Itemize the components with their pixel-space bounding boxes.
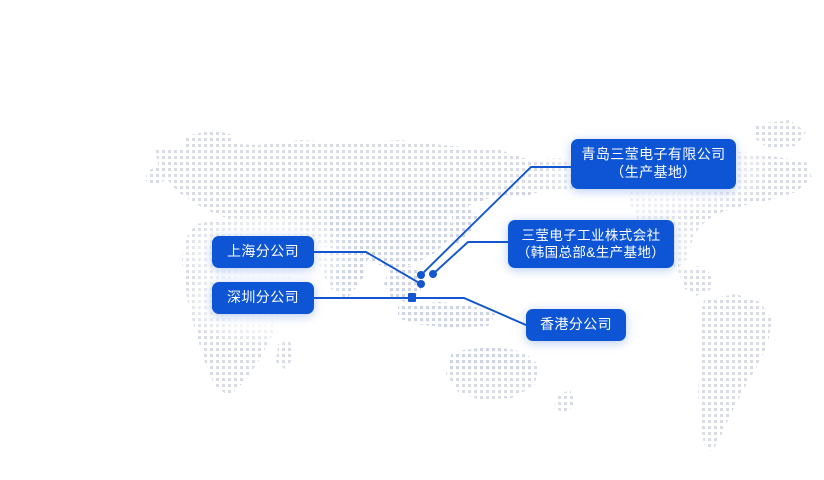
label-shanghai-line1: 上海分公司 [227, 243, 299, 261]
connector-lines [0, 0, 824, 480]
label-qingdao[interactable]: 青岛三莹电子有限公司 （生产基地） [571, 139, 736, 189]
label-korea-line2: （韩国总部&生产基地） [517, 244, 665, 261]
label-shenzhen[interactable]: 深圳分公司 [212, 282, 314, 314]
connector-korea [433, 242, 508, 274]
connector-hongkong [412, 298, 526, 325]
marker-shenzhen[interactable] [408, 293, 416, 302]
label-hongkong[interactable]: 香港分公司 [526, 309, 626, 341]
label-hongkong-line1: 香港分公司 [540, 316, 612, 334]
label-shanghai[interactable]: 上海分公司 [212, 236, 314, 268]
label-qingdao-line2: （生产基地） [610, 164, 696, 182]
label-qingdao-line1: 青岛三莹电子有限公司 [582, 146, 726, 164]
label-korea-hq[interactable]: 三莹电子工业株式会社 （韩国总部&生产基地） [508, 220, 674, 268]
marker-qingdao[interactable] [417, 271, 425, 279]
marker-korea[interactable] [429, 270, 437, 278]
connector-shanghai [314, 252, 421, 284]
label-korea-line1: 三莹电子工业株式会社 [522, 227, 661, 244]
label-shenzhen-line1: 深圳分公司 [227, 289, 299, 307]
map-canvas: 青岛三莹电子有限公司 （生产基地） 三莹电子工业株式会社 （韩国总部&生产基地）… [0, 0, 824, 480]
marker-shanghai[interactable] [417, 280, 425, 288]
